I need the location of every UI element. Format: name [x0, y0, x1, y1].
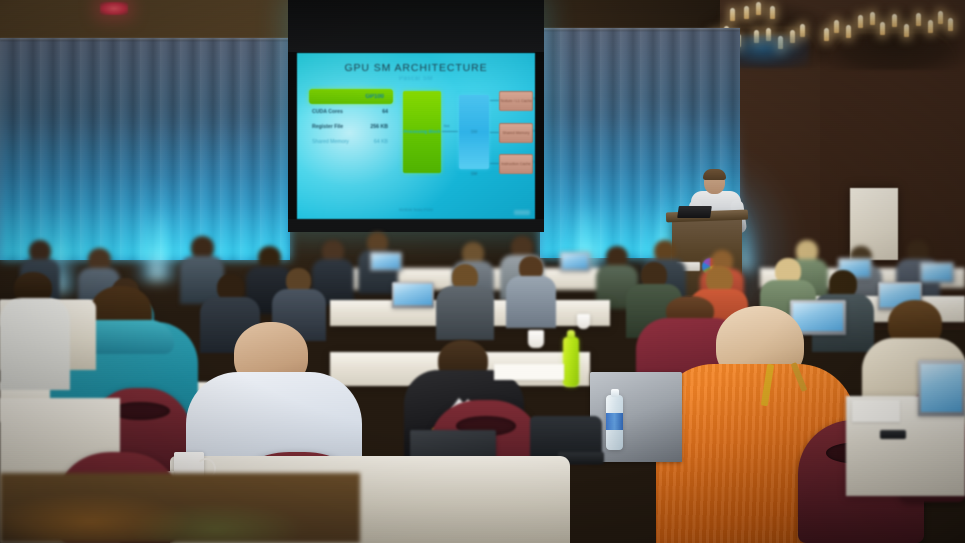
slide-logo	[514, 210, 530, 215]
attendee-white-shirt-left	[0, 272, 70, 382]
projection-screen: GPU SM ARCHITECTURE Pascal SM GP100 CUDA…	[288, 0, 544, 232]
chandelier-candle	[858, 15, 863, 28]
slide-subtitle: Pascal SM	[297, 76, 535, 82]
spec-key: Shared Memory	[312, 139, 349, 145]
uplight-beam	[130, 131, 184, 281]
laptop[interactable]	[392, 282, 434, 312]
diagram-green-label: Processing Block	[404, 129, 441, 135]
laptop-lid	[590, 372, 682, 462]
diagram-box-tag: Texture	[533, 97, 535, 101]
water-bottle	[606, 395, 623, 450]
carpet-floor	[0, 473, 360, 543]
green-sport-bottle	[563, 337, 579, 387]
chandelier-candle	[938, 11, 943, 24]
chandelier-right	[818, 0, 965, 70]
diagram-blue-label: SM	[459, 129, 489, 134]
diagram-right-box-label: Texture / L1 Cache	[500, 99, 532, 104]
chandelier-candle	[744, 6, 749, 19]
diagram-connector	[490, 163, 499, 164]
coffee-mug	[528, 330, 544, 348]
laptop-screen	[921, 364, 962, 412]
notepad-paper	[494, 364, 564, 380]
chandelier-candle	[756, 2, 761, 15]
spec-value: 256 KB	[370, 124, 388, 130]
spec-key: CUDA Cores	[312, 109, 343, 115]
attendee-torso	[0, 298, 70, 390]
attendee-torso	[436, 286, 494, 340]
laptop-screen	[372, 254, 400, 269]
spec-value: 64 KB	[374, 139, 388, 145]
diagram-box-tag: Instruction	[533, 160, 535, 164]
diagram-green-block: Processing Block	[403, 91, 441, 173]
laptop[interactable]	[918, 360, 965, 422]
spec-row: Shared Memory 64 KB	[309, 134, 393, 149]
chandelier-candle	[846, 25, 851, 38]
chandelier-candle	[870, 12, 875, 25]
attendee	[506, 256, 556, 322]
slide-spec-table: GP100 CUDA Cores 64 Register File 256 KB…	[309, 89, 393, 149]
attendee	[436, 264, 494, 334]
presentation-slide: GPU SM ARCHITECTURE Pascal SM GP100 CUDA…	[297, 53, 535, 219]
slide-title: GPU SM ARCHITECTURE	[297, 62, 535, 74]
coffee-mug	[577, 314, 590, 329]
screen-frame-top	[288, 0, 544, 52]
diagram-connector-label: bus	[444, 124, 449, 128]
chandelier-candle	[948, 18, 953, 31]
spec-row: CUDA Cores 64	[309, 104, 393, 119]
spec-table-header: GP100	[309, 89, 393, 104]
laptop-screen	[562, 254, 588, 269]
podium-laptop	[677, 206, 712, 218]
curtain-rod	[540, 28, 740, 31]
diagram-right-box-label: Shared Memory	[502, 131, 529, 136]
notepad-paper	[852, 400, 900, 422]
chandelier-candle	[928, 20, 933, 33]
diagram-blue-caption: SM	[459, 171, 489, 176]
chandelier-candle	[730, 8, 735, 21]
diagram-box-tag: Memory	[533, 129, 535, 133]
spec-header-label: GP100	[365, 94, 384, 100]
diagram-right-box: Shared Memory	[499, 123, 533, 143]
laptop-screen	[922, 264, 952, 281]
diagram-connector	[442, 131, 458, 132]
chandelier-candle	[904, 24, 909, 37]
laptop[interactable]	[370, 252, 402, 274]
chandelier-candle	[916, 13, 921, 26]
spec-value: 64	[382, 109, 388, 115]
chandelier-candle	[892, 14, 897, 27]
diagram-blue-block: SM	[459, 95, 489, 169]
slide-diagram: Processing Block bus SM SM Texture / L1 …	[401, 83, 529, 198]
chandelier-candle	[824, 28, 829, 41]
chandelier-candle	[834, 20, 839, 33]
conference-room-photo: GPU SM ARCHITECTURE Pascal SM GP100 CUDA…	[0, 0, 965, 543]
diagram-right-box-label: Instruction Cache	[501, 162, 531, 167]
exit-sign	[100, 2, 128, 15]
laptop[interactable]	[560, 252, 590, 274]
diagram-connector	[490, 132, 499, 133]
screen-frame-bottom	[288, 219, 544, 232]
diagram-connector	[490, 100, 499, 101]
diagram-right-box: Instruction Cache	[499, 154, 533, 174]
chandelier-candle	[770, 6, 775, 19]
chandelier-candle	[880, 22, 885, 35]
spec-key: Register File	[312, 124, 343, 130]
attendee-torso	[506, 276, 556, 328]
curtain-rod	[0, 38, 290, 41]
spec-row: Register File 256 KB	[309, 119, 393, 134]
laptop[interactable]	[920, 262, 954, 286]
laptop-screen	[394, 284, 432, 305]
mobile-phone[interactable]	[880, 430, 906, 439]
presenter-hair	[703, 169, 726, 180]
diagram-right-box: Texture / L1 Cache	[499, 91, 533, 111]
slide-footer: NVIDIA Tesla P100	[297, 207, 535, 212]
